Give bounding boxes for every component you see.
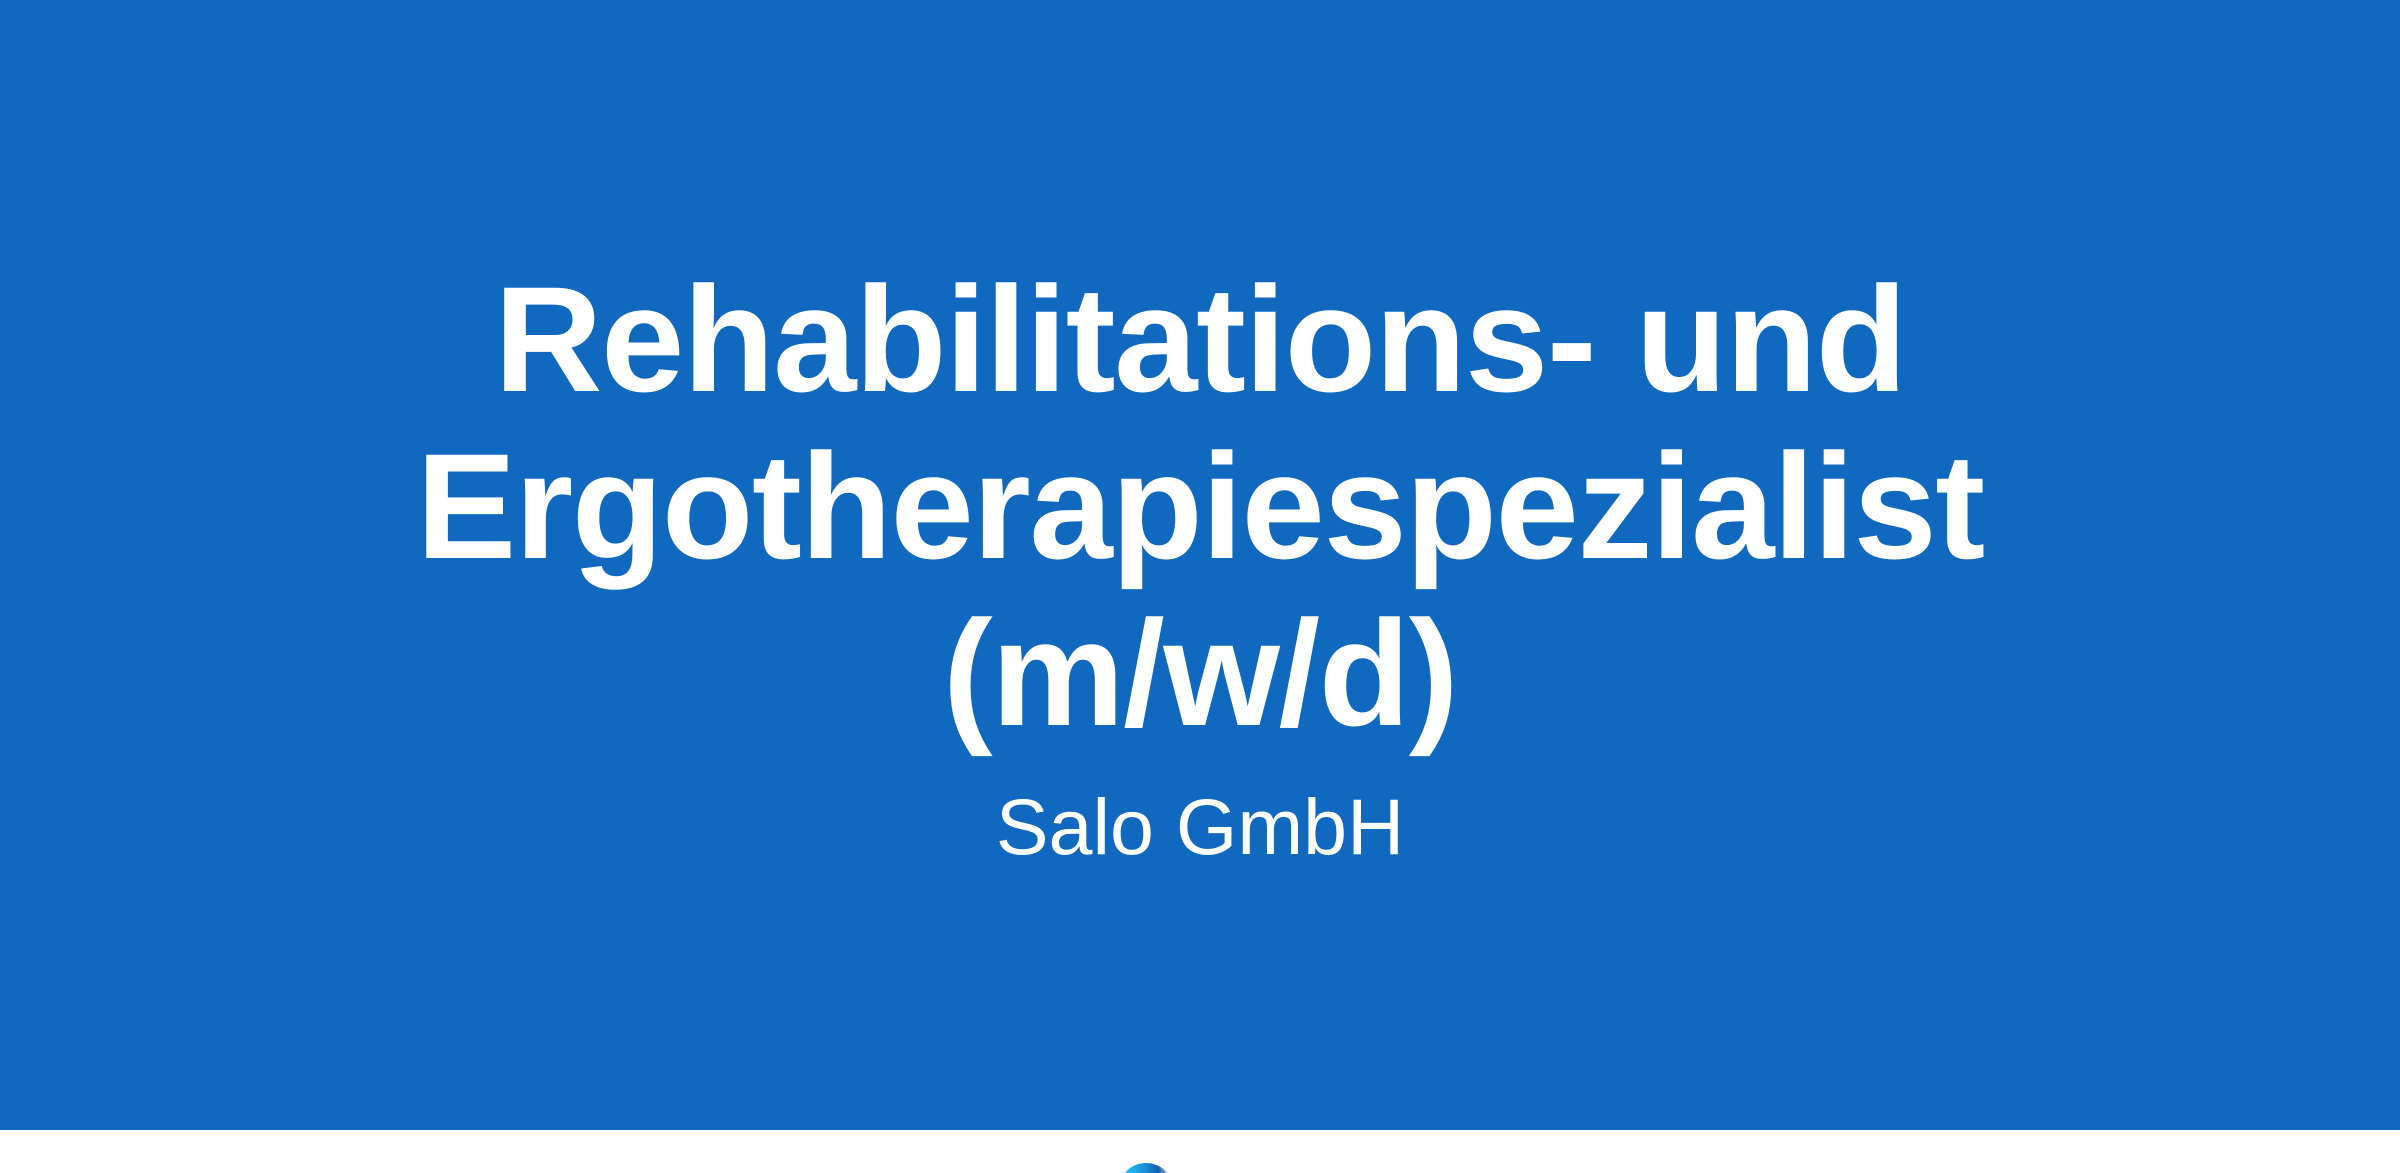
job-posting-hero-page: Rehabilitations- und Ergotherapiespezial… (0, 0, 2400, 1173)
job-title-line-3: (m/w/d) (416, 590, 1984, 757)
company-name: Salo GmbH (996, 779, 1404, 875)
hero-banner: Rehabilitations- und Ergotherapiespezial… (0, 0, 2400, 1130)
below-hero-strip (0, 1130, 2400, 1173)
company-logo-arc-icon (1118, 1163, 1174, 1173)
job-title-line-1: Rehabilitations- und (416, 256, 1984, 423)
job-title-line-2: Ergotherapiespezialist (416, 423, 1984, 590)
logo-arc-shape (1118, 1163, 1174, 1173)
hero-content: Rehabilitations- und Ergotherapiespezial… (0, 0, 2400, 1130)
page-title: Rehabilitations- und Ergotherapiespezial… (416, 256, 1984, 757)
